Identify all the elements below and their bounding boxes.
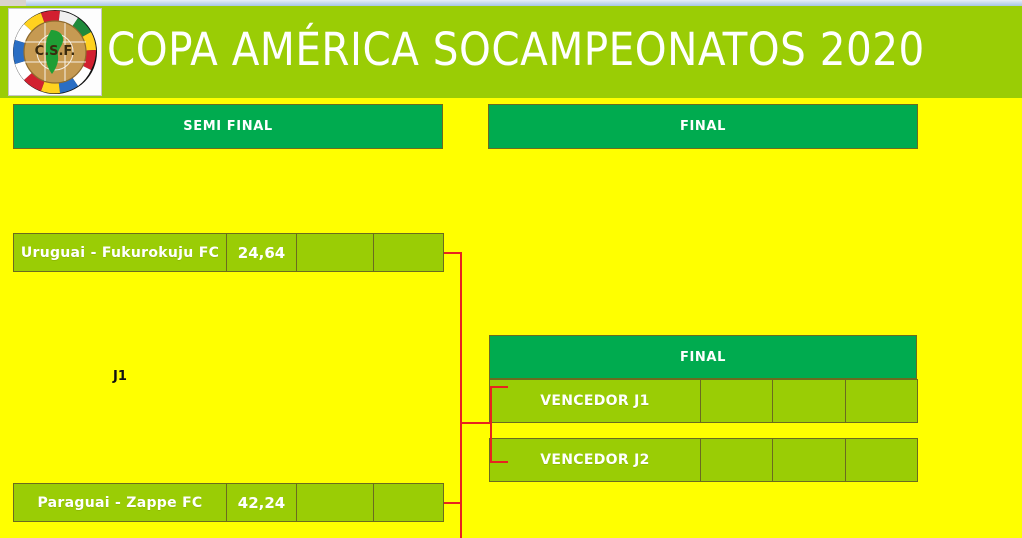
semifinal-match2-team[interactable]: Paraguai - Zappe FC — [13, 483, 227, 522]
final-row2-team[interactable]: VENCEDOR J2 — [489, 438, 701, 482]
semifinal-match-tag-j1: J1 — [113, 369, 127, 384]
stage-header-semi-final: SEMI FINAL — [13, 104, 443, 149]
final-row1-cell-3[interactable] — [772, 379, 846, 423]
final-row1-cell-4[interactable] — [845, 379, 918, 423]
stage-header-final: FINAL — [488, 104, 918, 149]
semifinal-match1-score[interactable]: 24,64 — [226, 233, 297, 272]
bracket-line-final-row1-vertical — [490, 386, 492, 423]
final-row1-cell-2[interactable] — [700, 379, 773, 423]
svg-text:C.S.F.: C.S.F. — [35, 44, 76, 59]
page-title: COPA AMÉRICA SOCAMPEONATOS 2020 — [107, 18, 967, 82]
bracket-canvas: C.S.F. COPA AMÉRICA SOCAMPEONATOS 2020 S… — [0, 0, 1022, 538]
bracket-line-spine-midpoint — [460, 422, 492, 424]
conmebol-csf-logo: C.S.F. — [8, 8, 102, 96]
semifinal-match2-score[interactable]: 42,24 — [226, 483, 297, 522]
bracket-line-spine — [460, 252, 462, 538]
bracket-line-final-row1-horizontal — [490, 386, 508, 388]
bracket-line-final-row2-vertical — [490, 422, 492, 463]
final-row2-cell-4[interactable] — [845, 438, 918, 482]
semifinal-match2-cell-4[interactable] — [373, 483, 444, 522]
final-row2-cell-2[interactable] — [700, 438, 773, 482]
final-block-header: FINAL — [489, 335, 917, 379]
final-row1-team[interactable]: VENCEDOR J1 — [489, 379, 701, 423]
semifinal-match1-team[interactable]: Uruguai - Fukurokuju FC — [13, 233, 227, 272]
final-row2-cell-3[interactable] — [772, 438, 846, 482]
bracket-line-match2-horizontal — [444, 502, 462, 504]
semifinal-match1-cell-4[interactable] — [373, 233, 444, 272]
bracket-line-final-row2-horizontal — [490, 461, 508, 463]
semifinal-match2-cell-3[interactable] — [296, 483, 374, 522]
semifinal-match1-cell-3[interactable] — [296, 233, 374, 272]
